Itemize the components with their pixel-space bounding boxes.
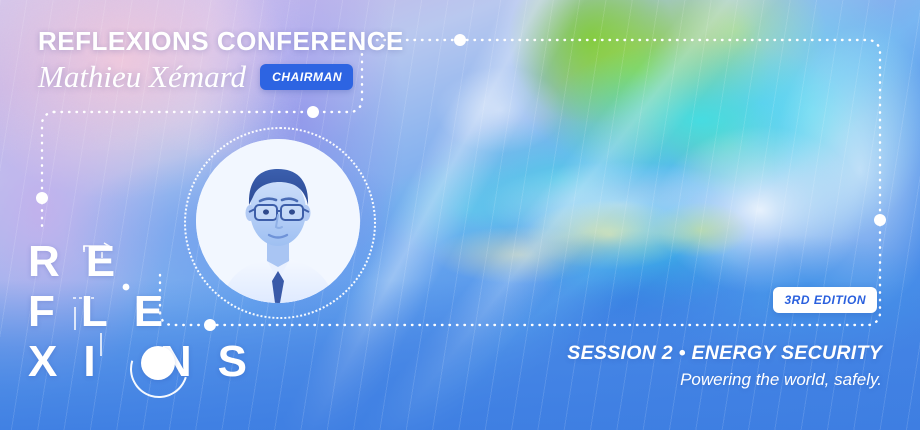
reflexions-logo: RE FLE XI NS <box>28 238 273 386</box>
speaker-row: Mathieu Xémard CHAIRMAN <box>38 60 404 94</box>
speaker-name: Mathieu Xémard <box>38 60 246 94</box>
logo-line-1: RE <box>28 238 273 286</box>
banner-header: REFLEXIONS CONFERENCE Mathieu Xémard CHA… <box>38 28 404 94</box>
conference-banner: REFLEXIONS CONFERENCE Mathieu Xémard CHA… <box>0 0 920 430</box>
session-tagline: Powering the world, safely. <box>567 370 882 390</box>
conference-kicker: REFLEXIONS CONFERENCE <box>38 28 404 54</box>
session-title: SESSION 2 • ENERGY SECURITY <box>567 342 882 364</box>
edition-badge[interactable]: 3RD EDITION <box>773 287 877 313</box>
role-badge[interactable]: CHAIRMAN <box>260 64 353 90</box>
logo-line-3-prefix: XI <box>28 338 122 386</box>
logo-line-2: FLE <box>28 288 273 336</box>
session-block: SESSION 2 • ENERGY SECURITY Powering the… <box>567 342 882 390</box>
logo-line-3: XI NS <box>28 338 273 386</box>
